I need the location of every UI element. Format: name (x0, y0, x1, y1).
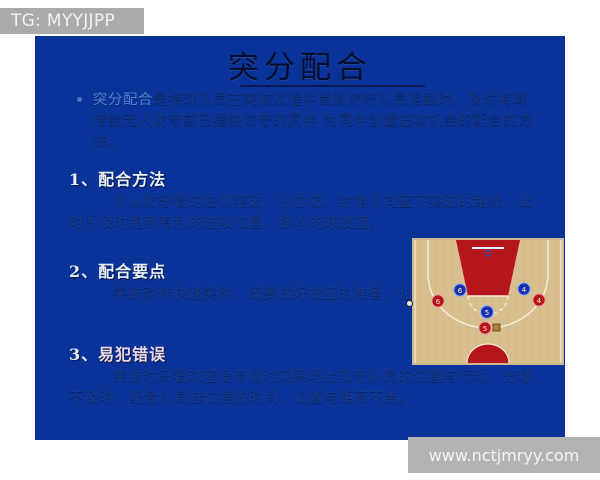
svg-text:6: 6 (436, 298, 441, 306)
watermark-label: www.nctjmryy.com (429, 446, 580, 465)
court-side-marker-icon (406, 300, 413, 307)
section-3-number: 3、 (69, 341, 98, 365)
tg-tag-label: TG: MYYJJPP (11, 11, 115, 31)
section-3-body: 突破时只看球篮没有随时观察场上攻守队员的位置与行动，分球不及时。配合队员选位摆脱… (69, 367, 545, 409)
section-1-heading: 1、配合方法 (69, 166, 549, 190)
player-red-4: 4 (533, 294, 545, 306)
section-1-number: 1、 (69, 166, 98, 190)
section-2-number: 2、 (69, 258, 98, 282)
svg-text:4: 4 (522, 286, 527, 294)
player-blue-5: 5 (481, 306, 494, 319)
tg-tag: TG: MYYJJPP (0, 8, 144, 34)
intro-text: 是持球队员在突破过程中受到防守队员阻截时，及时将球传给无人防守或已摆脱防守的同伴… (93, 92, 533, 150)
player-blue-6: 6 (454, 284, 466, 296)
title-underline (240, 85, 425, 87)
svg-text:4: 4 (537, 297, 542, 305)
svg-text:5: 5 (485, 309, 489, 317)
intro-lead-term: 突分配合 (93, 92, 153, 108)
page-title: 突分配合 (35, 42, 565, 87)
section-1-body: ⑤从防守者的左侧突破，④协防，封堵⑤向篮下突破的路线，此时④及时跑到有利的进攻位… (69, 192, 539, 234)
svg-text:6: 6 (458, 287, 463, 295)
bullet-dot-icon (77, 97, 82, 102)
player-red-6: 6 (432, 295, 444, 307)
svg-text:5: 5 (483, 325, 487, 333)
ball-icon (493, 324, 500, 331)
section-1-title: 配合方法 (98, 170, 166, 189)
presentation-slide: 突分配合 突分配合是持球队员在突破过程中受到防守队员阻截时，及时将球传给无人防守… (35, 36, 565, 440)
watermark: www.nctjmryy.com (408, 437, 600, 473)
section-1: 1、配合方法 ⑤从防守者的左侧突破，④协防，封堵⑤向篮下突破的路线，此时④及时跑… (69, 166, 549, 234)
section-3-title: 易犯错误 (98, 345, 166, 364)
court-svg: 6 6 4 4 5 (414, 240, 562, 363)
basketball-court-diagram: 6 6 4 4 5 (412, 238, 564, 365)
player-blue-4: 4 (518, 283, 530, 295)
intro-bullet-row: 突分配合是持球队员在突破过程中受到防守队员阻截时，及时将球传给无人防守或已摆脱防… (93, 90, 541, 153)
section-2-title: 配合要点 (98, 262, 166, 281)
player-red-5: 5 (479, 322, 491, 334)
